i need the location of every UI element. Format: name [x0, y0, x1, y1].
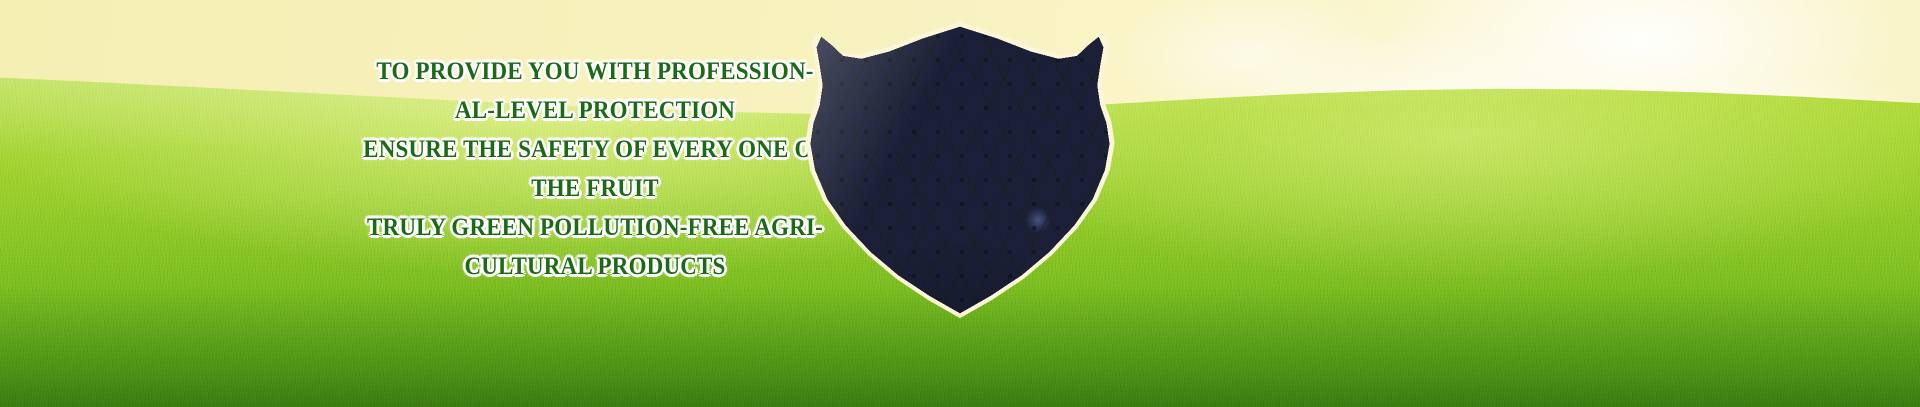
slogan-line-1: TO PROVIDE YOU WITH PROFESSION-: [337, 52, 852, 91]
slogan-line-6: CULTURAL PRODUCTS: [337, 247, 852, 286]
slogan-line-5: TRULY GREEN POLLUTION-FREE AGRI-: [337, 208, 852, 247]
slogan-line-3: ENSURE THE SAFETY OF EVERY ONE OF: [337, 130, 852, 169]
slogan-line-2: AL-LEVEL PROTECTION: [337, 91, 852, 130]
slogan-text-block: TO PROVIDE YOU WITH PROFESSION- AL-LEVEL…: [315, 52, 875, 286]
shield-emblem: [806, 24, 1114, 316]
promotional-banner: TO PROVIDE YOU WITH PROFESSION- AL-LEVEL…: [0, 0, 1920, 407]
shield-vineyard-photo: [806, 24, 1114, 316]
slogan-line-4: THE FRUIT: [337, 169, 852, 208]
